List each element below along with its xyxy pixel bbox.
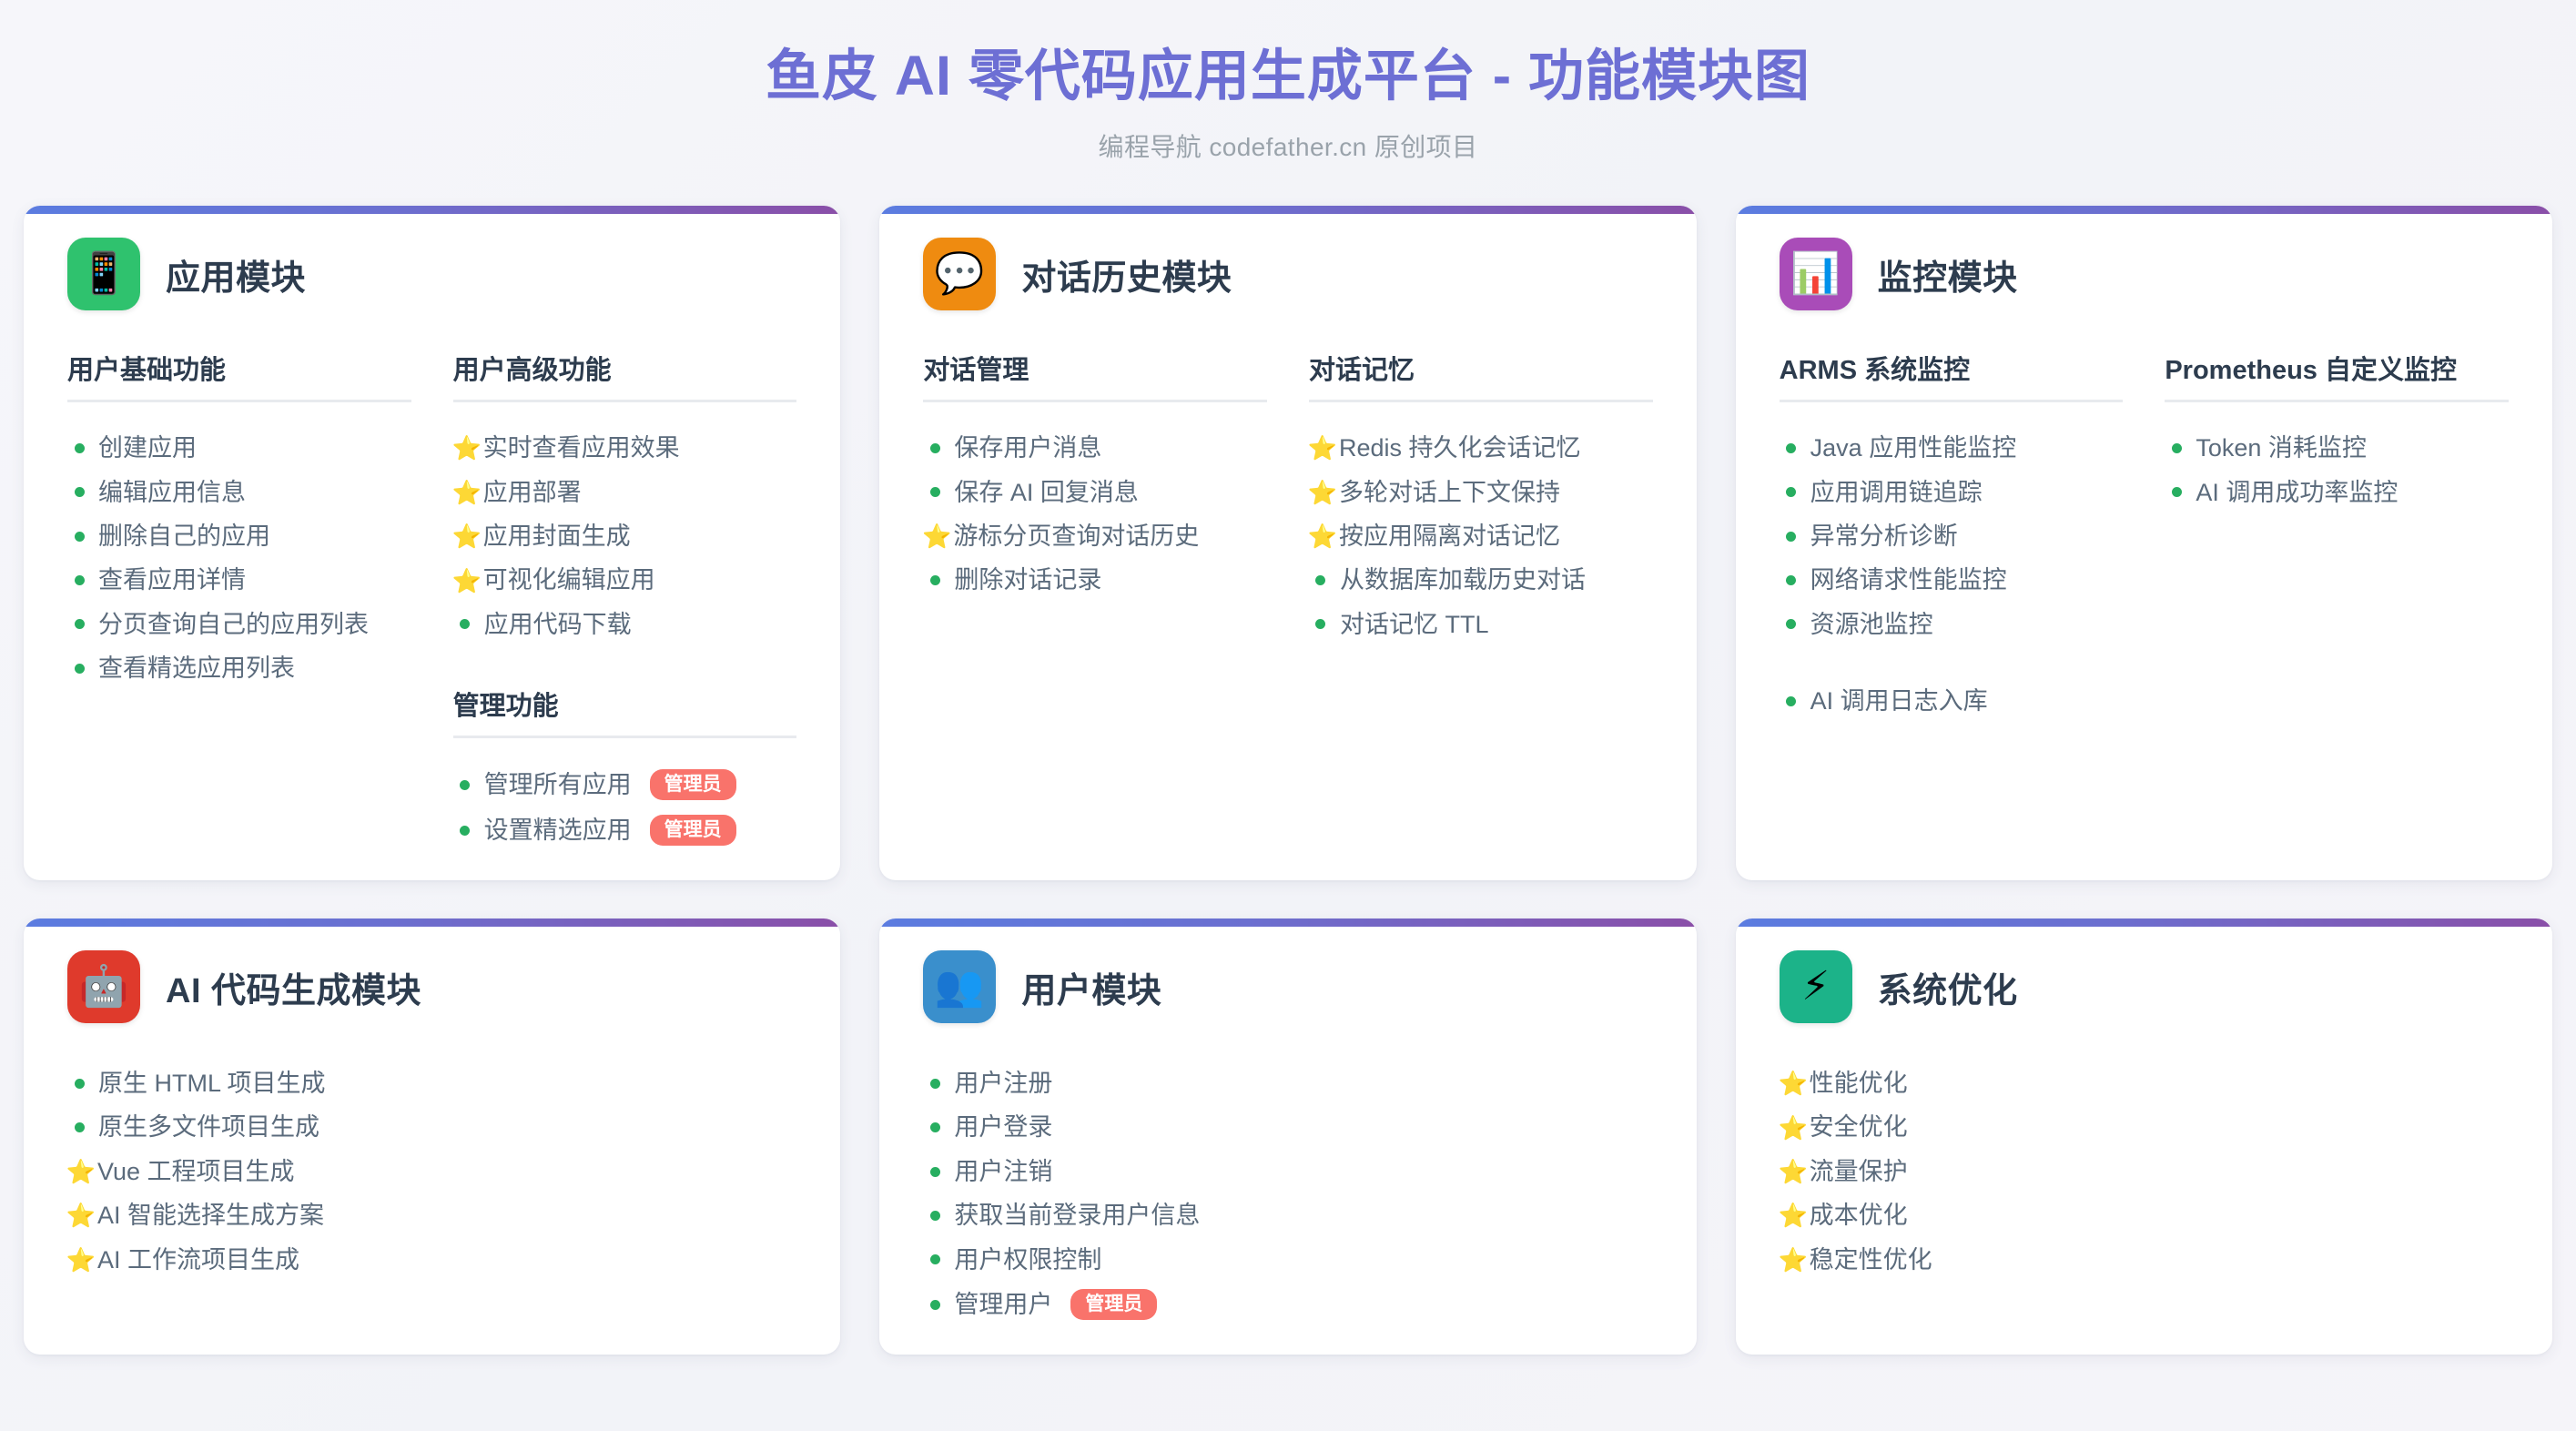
feature-group: 对话管理保存用户消息保存 AI 回复消息⭐游标分页查询对话历史删除对话记录 bbox=[923, 349, 1267, 603]
feature-item-label: 应用封面生成 bbox=[483, 522, 631, 551]
bullet-dot-icon bbox=[67, 619, 91, 629]
card-columns: 用户注册用户登录用户注销获取当前登录用户信息用户权限控制管理用户管理员 bbox=[923, 1061, 1652, 1327]
feature-item-label: 应用代码下载 bbox=[484, 610, 632, 639]
star-icon: ⭐ bbox=[67, 1203, 95, 1227]
card-title: 应用模块 bbox=[166, 249, 306, 299]
card-accent-bar bbox=[879, 206, 1696, 214]
feature-item-label: 多轮对话上下文保持 bbox=[1339, 478, 1560, 507]
bullet-dot-icon bbox=[67, 1122, 91, 1132]
feature-item: ⭐应用部署 bbox=[453, 471, 797, 514]
lightning-bolt-icon: ⚡ bbox=[1780, 950, 1852, 1023]
feature-item: 获取当前登录用户信息 bbox=[923, 1193, 1652, 1237]
feature-item: 用户注册 bbox=[923, 1061, 1652, 1105]
bullet-dot-icon bbox=[453, 780, 477, 790]
card-header: 📊监控模块 bbox=[1780, 238, 2509, 310]
feature-item-label: Java 应用性能监控 bbox=[1810, 433, 2017, 462]
feature-item-label: Token 消耗监控 bbox=[2196, 433, 2367, 462]
bullet-dot-icon bbox=[67, 487, 91, 497]
star-icon: ⭐ bbox=[453, 436, 481, 460]
feature-item: 管理所有应用管理员 bbox=[453, 762, 797, 807]
card-body: ⚡系统优化⭐性能优化⭐安全优化⭐流量保护⭐成本优化⭐稳定性优化 bbox=[1736, 927, 2552, 1282]
module-card-grid: 📱应用模块用户基础功能创建应用编辑应用信息删除自己的应用查看应用详情分页查询自己… bbox=[24, 206, 2552, 1431]
feature-item-label: 网络请求性能监控 bbox=[1810, 565, 2007, 594]
feature-item-label: 原生多文件项目生成 bbox=[98, 1112, 319, 1142]
feature-list: ⭐性能优化⭐安全优化⭐流量保护⭐成本优化⭐稳定性优化 bbox=[1780, 1061, 2509, 1282]
bullet-dot-icon bbox=[923, 575, 947, 585]
feature-item: ⭐性能优化 bbox=[1780, 1061, 2509, 1105]
card-column: 原生 HTML 项目生成原生多文件项目生成⭐Vue 工程项目生成⭐AI 智能选择… bbox=[67, 1061, 796, 1282]
module-card: 👥用户模块用户注册用户登录用户注销获取当前登录用户信息用户权限控制管理用户管理员 bbox=[879, 918, 1696, 1355]
feature-item: AI 调用日志入库 bbox=[1780, 679, 2124, 723]
feature-item-label: 设置精选应用 bbox=[484, 816, 632, 845]
feature-item-label: 安全优化 bbox=[1810, 1112, 1908, 1142]
feature-item-label: 分页查询自己的应用列表 bbox=[98, 610, 369, 639]
feature-item-label: Vue 工程项目生成 bbox=[97, 1157, 295, 1186]
feature-item-label: AI 调用日志入库 bbox=[1810, 686, 1988, 715]
bullet-dot-icon bbox=[923, 1254, 947, 1264]
feature-item: ⭐AI 智能选择生成方案 bbox=[67, 1193, 796, 1237]
feature-item: 应用调用链追踪 bbox=[1780, 471, 2124, 514]
feature-group: 管理功能管理所有应用管理员设置精选应用管理员 bbox=[453, 685, 797, 853]
page-subtitle: 编程导航 codefather.cn 原创项目 bbox=[24, 127, 2552, 164]
feature-item: 编辑应用信息 bbox=[67, 471, 411, 514]
bullet-dot-icon bbox=[2165, 487, 2188, 497]
module-card: 📊监控模块ARMS 系统监控Java 应用性能监控应用调用链追踪异常分析诊断网络… bbox=[1736, 206, 2552, 880]
feature-item: 用户注销 bbox=[923, 1150, 1652, 1193]
star-icon: ⭐ bbox=[1309, 481, 1336, 504]
card-column: 用户高级功能⭐实时查看应用效果⭐应用部署⭐应用封面生成⭐可视化编辑应用应用代码下… bbox=[453, 349, 797, 853]
feature-item-label: 用户权限控制 bbox=[954, 1245, 1101, 1274]
feature-group-title: 对话记忆 bbox=[1309, 349, 1653, 402]
feature-item-label: 编辑应用信息 bbox=[98, 478, 246, 507]
card-accent-bar bbox=[1736, 918, 2552, 927]
feature-item: AI 调用成功率监控 bbox=[2165, 471, 2509, 514]
feature-item-label: 获取当前登录用户信息 bbox=[954, 1201, 1200, 1230]
feature-item: 保存用户消息 bbox=[923, 426, 1267, 470]
feature-item: 用户权限控制 bbox=[923, 1238, 1652, 1282]
feature-item: 原生 HTML 项目生成 bbox=[67, 1061, 796, 1105]
feature-group: 对话记忆⭐Redis 持久化会话记忆⭐多轮对话上下文保持⭐按应用隔离对话记忆从数… bbox=[1309, 349, 1653, 646]
feature-item-label: 稳定性优化 bbox=[1810, 1245, 1932, 1274]
feature-group: 用户基础功能创建应用编辑应用信息删除自己的应用查看应用详情分页查询自己的应用列表… bbox=[67, 349, 411, 690]
card-header: ⚡系统优化 bbox=[1780, 950, 2509, 1023]
feature-item-label: 实时查看应用效果 bbox=[483, 433, 680, 462]
mobile-phone-icon: 📱 bbox=[67, 238, 140, 310]
bullet-dot-icon bbox=[67, 443, 91, 453]
module-card: 💬对话历史模块对话管理保存用户消息保存 AI 回复消息⭐游标分页查询对话历史删除… bbox=[879, 206, 1696, 880]
module-card: 🤖AI 代码生成模块原生 HTML 项目生成原生多文件项目生成⭐Vue 工程项目… bbox=[24, 918, 840, 1355]
feature-item: ⭐实时查看应用效果 bbox=[453, 426, 797, 470]
feature-item-label: 查看应用详情 bbox=[98, 565, 246, 594]
card-body: 🤖AI 代码生成模块原生 HTML 项目生成原生多文件项目生成⭐Vue 工程项目… bbox=[24, 927, 840, 1282]
star-icon: ⭐ bbox=[1780, 1160, 1807, 1183]
card-body: 💬对话历史模块对话管理保存用户消息保存 AI 回复消息⭐游标分页查询对话历史删除… bbox=[879, 214, 1696, 646]
feature-group-title: ARMS 系统监控 bbox=[1780, 349, 2124, 402]
card-accent-bar bbox=[24, 206, 840, 214]
feature-item-label: 游标分页查询对话历史 bbox=[953, 522, 1199, 551]
star-icon: ⭐ bbox=[1309, 436, 1336, 460]
feature-item-label: 删除自己的应用 bbox=[98, 522, 270, 551]
bullet-dot-icon bbox=[923, 1167, 947, 1177]
feature-item: Token 消耗监控 bbox=[2165, 426, 2509, 470]
feature-item: 资源池监控 bbox=[1780, 603, 2124, 646]
card-column: ARMS 系统监控Java 应用性能监控应用调用链追踪异常分析诊断网络请求性能监… bbox=[1780, 349, 2124, 723]
bullet-dot-icon bbox=[923, 1122, 947, 1132]
card-accent-bar bbox=[24, 918, 840, 927]
card-header: 📱应用模块 bbox=[67, 238, 796, 310]
card-title: 系统优化 bbox=[1878, 962, 2018, 1012]
feature-item: ⭐多轮对话上下文保持 bbox=[1309, 471, 1653, 514]
bullet-dot-icon bbox=[1780, 696, 1803, 706]
feature-group: 用户注册用户登录用户注销获取当前登录用户信息用户权限控制管理用户管理员 bbox=[923, 1061, 1652, 1327]
star-icon: ⭐ bbox=[1780, 1071, 1807, 1095]
feature-group: 用户高级功能⭐实时查看应用效果⭐应用部署⭐应用封面生成⭐可视化编辑应用应用代码下… bbox=[453, 349, 797, 646]
star-icon: ⭐ bbox=[923, 524, 950, 548]
card-header: 💬对话历史模块 bbox=[923, 238, 1652, 310]
card-column: 对话管理保存用户消息保存 AI 回复消息⭐游标分页查询对话历史删除对话记录 bbox=[923, 349, 1267, 646]
feature-item-label: 保存用户消息 bbox=[954, 433, 1101, 462]
users-icon: 👥 bbox=[923, 950, 996, 1023]
card-column: ⭐性能优化⭐安全优化⭐流量保护⭐成本优化⭐稳定性优化 bbox=[1780, 1061, 2509, 1282]
feature-list: 用户注册用户登录用户注销获取当前登录用户信息用户权限控制管理用户管理员 bbox=[923, 1061, 1652, 1327]
feature-item-label: 资源池监控 bbox=[1810, 610, 1933, 639]
card-accent-bar bbox=[1736, 206, 2552, 214]
feature-group-title: Prometheus 自定义监控 bbox=[2165, 349, 2509, 402]
card-title: AI 代码生成模块 bbox=[166, 962, 421, 1012]
feature-item: 异常分析诊断 bbox=[1780, 514, 2124, 558]
card-title: 用户模块 bbox=[1021, 962, 1161, 1012]
feature-item-label: 用户登录 bbox=[954, 1112, 1052, 1142]
card-columns: ⭐性能优化⭐安全优化⭐流量保护⭐成本优化⭐稳定性优化 bbox=[1780, 1061, 2509, 1282]
feature-item-label: 应用调用链追踪 bbox=[1810, 478, 1983, 507]
feature-item-label: 查看精选应用列表 bbox=[98, 654, 295, 683]
feature-item-label: 保存 AI 回复消息 bbox=[954, 478, 1139, 507]
page-root: 鱼皮 AI 零代码应用生成平台 - 功能模块图 编程导航 codefather.… bbox=[0, 0, 2576, 1431]
star-icon: ⭐ bbox=[453, 524, 481, 548]
feature-group: ARMS 系统监控Java 应用性能监控应用调用链追踪异常分析诊断网络请求性能监… bbox=[1780, 349, 2124, 723]
feature-item-label: 管理所有应用 bbox=[484, 770, 632, 799]
feature-item-label: 从数据库加载历史对话 bbox=[1340, 565, 1586, 594]
feature-group-title: 用户基础功能 bbox=[67, 349, 411, 402]
star-icon: ⭐ bbox=[453, 481, 481, 504]
admin-badge: 管理员 bbox=[1070, 1289, 1157, 1320]
feature-item-label: AI 调用成功率监控 bbox=[2196, 478, 2398, 507]
feature-item: ⭐AI 工作流项目生成 bbox=[67, 1238, 796, 1282]
bullet-dot-icon bbox=[1780, 532, 1803, 542]
feature-item-label: 异常分析诊断 bbox=[1810, 522, 1958, 551]
feature-item-label: AI 智能选择生成方案 bbox=[97, 1201, 324, 1230]
feature-item: 应用代码下载 bbox=[453, 603, 797, 646]
bullet-dot-icon bbox=[67, 1079, 91, 1089]
feature-item: ⭐Redis 持久化会话记忆 bbox=[1309, 426, 1653, 470]
feature-item: 保存 AI 回复消息 bbox=[923, 471, 1267, 514]
bullet-dot-icon bbox=[1309, 575, 1333, 585]
feature-item-label: 成本优化 bbox=[1810, 1201, 1908, 1230]
feature-item: 设置精选应用管理员 bbox=[453, 807, 797, 853]
bullet-dot-icon bbox=[923, 1300, 947, 1310]
module-card: ⚡系统优化⭐性能优化⭐安全优化⭐流量保护⭐成本优化⭐稳定性优化 bbox=[1736, 918, 2552, 1355]
bullet-dot-icon bbox=[1780, 487, 1803, 497]
feature-list: 保存用户消息保存 AI 回复消息⭐游标分页查询对话历史删除对话记录 bbox=[923, 426, 1267, 603]
module-card: 📱应用模块用户基础功能创建应用编辑应用信息删除自己的应用查看应用详情分页查询自己… bbox=[24, 206, 840, 880]
card-columns: ARMS 系统监控Java 应用性能监控应用调用链追踪异常分析诊断网络请求性能监… bbox=[1780, 349, 2509, 723]
card-accent-bar bbox=[879, 918, 1696, 927]
feature-item: 管理用户管理员 bbox=[923, 1282, 1652, 1327]
star-icon: ⭐ bbox=[1309, 524, 1336, 548]
card-column: 用户注册用户登录用户注销获取当前登录用户信息用户权限控制管理用户管理员 bbox=[923, 1061, 1652, 1327]
feature-item: 对话记忆 TTL bbox=[1309, 603, 1653, 646]
card-column: Prometheus 自定义监控Token 消耗监控AI 调用成功率监控 bbox=[2165, 349, 2509, 723]
feature-item: ⭐游标分页查询对话历史 bbox=[923, 514, 1267, 558]
star-icon: ⭐ bbox=[1780, 1116, 1807, 1140]
admin-badge: 管理员 bbox=[650, 769, 736, 800]
feature-item: ⭐可视化编辑应用 bbox=[453, 558, 797, 602]
card-column: 用户基础功能创建应用编辑应用信息删除自己的应用查看应用详情分页查询自己的应用列表… bbox=[67, 349, 411, 853]
feature-item-label: 应用部署 bbox=[483, 478, 582, 507]
card-column: 对话记忆⭐Redis 持久化会话记忆⭐多轮对话上下文保持⭐按应用隔离对话记忆从数… bbox=[1309, 349, 1653, 646]
feature-item: 查看精选应用列表 bbox=[67, 646, 411, 690]
feature-item: Java 应用性能监控 bbox=[1780, 426, 2124, 470]
feature-item-label: 删除对话记录 bbox=[954, 565, 1101, 594]
bullet-dot-icon bbox=[453, 826, 477, 836]
feature-group: 原生 HTML 项目生成原生多文件项目生成⭐Vue 工程项目生成⭐AI 智能选择… bbox=[67, 1061, 796, 1282]
feature-item: 创建应用 bbox=[67, 426, 411, 470]
bullet-dot-icon bbox=[923, 1211, 947, 1221]
feature-item-label: 可视化编辑应用 bbox=[483, 565, 655, 594]
feature-item-label: 用户注册 bbox=[954, 1069, 1052, 1098]
card-title: 监控模块 bbox=[1878, 249, 2018, 299]
card-columns: 用户基础功能创建应用编辑应用信息删除自己的应用查看应用详情分页查询自己的应用列表… bbox=[67, 349, 796, 853]
feature-item: 查看应用详情 bbox=[67, 558, 411, 602]
card-body: 📱应用模块用户基础功能创建应用编辑应用信息删除自己的应用查看应用详情分页查询自己… bbox=[24, 214, 840, 853]
feature-group: Prometheus 自定义监控Token 消耗监控AI 调用成功率监控 bbox=[2165, 349, 2509, 514]
feature-group-title: 用户高级功能 bbox=[453, 349, 797, 402]
feature-item-label: 按应用隔离对话记忆 bbox=[1339, 522, 1560, 551]
feature-item: ⭐稳定性优化 bbox=[1780, 1238, 2509, 1282]
bullet-dot-icon bbox=[923, 487, 947, 497]
card-body: 📊监控模块ARMS 系统监控Java 应用性能监控应用调用链追踪异常分析诊断网络… bbox=[1736, 214, 2552, 723]
star-icon: ⭐ bbox=[453, 569, 481, 593]
feature-item: ⭐流量保护 bbox=[1780, 1150, 2509, 1193]
feature-item-label: 性能优化 bbox=[1810, 1069, 1908, 1098]
feature-item-label: 创建应用 bbox=[98, 433, 197, 462]
feature-list: ⭐实时查看应用效果⭐应用部署⭐应用封面生成⭐可视化编辑应用应用代码下载 bbox=[453, 426, 797, 646]
bullet-dot-icon bbox=[923, 1079, 947, 1089]
feature-item: 原生多文件项目生成 bbox=[67, 1105, 796, 1149]
feature-group-title: 管理功能 bbox=[453, 685, 797, 738]
feature-item: 从数据库加载历史对话 bbox=[1309, 558, 1653, 602]
feature-item: ⭐应用封面生成 bbox=[453, 514, 797, 558]
robot-icon: 🤖 bbox=[67, 950, 140, 1023]
feature-item: ⭐Vue 工程项目生成 bbox=[67, 1150, 796, 1193]
bullet-dot-icon bbox=[1309, 619, 1333, 629]
feature-item-label: 用户注销 bbox=[954, 1157, 1052, 1186]
page-title: 鱼皮 AI 零代码应用生成平台 - 功能模块图 bbox=[24, 44, 2552, 107]
card-body: 👥用户模块用户注册用户登录用户注销获取当前登录用户信息用户权限控制管理用户管理员 bbox=[879, 927, 1696, 1327]
feature-item-label: Redis 持久化会话记忆 bbox=[1339, 433, 1581, 462]
feature-list: Token 消耗监控AI 调用成功率监控 bbox=[2165, 426, 2509, 514]
bullet-dot-icon bbox=[67, 575, 91, 585]
bar-chart-icon: 📊 bbox=[1780, 238, 1852, 310]
card-header: 👥用户模块 bbox=[923, 950, 1652, 1023]
feature-item-label: 管理用户 bbox=[954, 1290, 1052, 1319]
feature-list: ⭐Redis 持久化会话记忆⭐多轮对话上下文保持⭐按应用隔离对话记忆从数据库加载… bbox=[1309, 426, 1653, 646]
bullet-dot-icon bbox=[67, 664, 91, 674]
bullet-dot-icon bbox=[1780, 443, 1803, 453]
bullet-dot-icon bbox=[453, 619, 477, 629]
feature-item: ⭐成本优化 bbox=[1780, 1193, 2509, 1237]
feature-item: 分页查询自己的应用列表 bbox=[67, 603, 411, 646]
page-header: 鱼皮 AI 零代码应用生成平台 - 功能模块图 编程导航 codefather.… bbox=[24, 31, 2552, 164]
card-title: 对话历史模块 bbox=[1021, 249, 1232, 299]
star-icon: ⭐ bbox=[1780, 1203, 1807, 1227]
feature-item-label: AI 工作流项目生成 bbox=[97, 1245, 299, 1274]
feature-item-label: 流量保护 bbox=[1810, 1157, 1908, 1186]
admin-badge: 管理员 bbox=[650, 815, 736, 846]
bullet-dot-icon bbox=[1780, 575, 1803, 585]
feature-item: ⭐安全优化 bbox=[1780, 1105, 2509, 1149]
feature-item: 用户登录 bbox=[923, 1105, 1652, 1149]
feature-item-label: 原生 HTML 项目生成 bbox=[98, 1069, 326, 1098]
bullet-dot-icon bbox=[1780, 619, 1803, 629]
bullet-dot-icon bbox=[67, 532, 91, 542]
bullet-dot-icon bbox=[923, 443, 947, 453]
feature-list: 原生 HTML 项目生成原生多文件项目生成⭐Vue 工程项目生成⭐AI 智能选择… bbox=[67, 1061, 796, 1282]
feature-group: ⭐性能优化⭐安全优化⭐流量保护⭐成本优化⭐稳定性优化 bbox=[1780, 1061, 2509, 1282]
bullet-dot-icon bbox=[2165, 443, 2188, 453]
feature-list: 管理所有应用管理员设置精选应用管理员 bbox=[453, 762, 797, 853]
star-icon: ⭐ bbox=[1780, 1248, 1807, 1272]
card-header: 🤖AI 代码生成模块 bbox=[67, 950, 796, 1023]
feature-list: Java 应用性能监控应用调用链追踪异常分析诊断网络请求性能监控资源池监控AI … bbox=[1780, 426, 2124, 723]
feature-item: 网络请求性能监控 bbox=[1780, 558, 2124, 602]
feature-list: 创建应用编辑应用信息删除自己的应用查看应用详情分页查询自己的应用列表查看精选应用… bbox=[67, 426, 411, 690]
star-icon: ⭐ bbox=[67, 1160, 95, 1183]
feature-item-label: 对话记忆 TTL bbox=[1340, 610, 1489, 639]
feature-item: 删除对话记录 bbox=[923, 558, 1267, 602]
card-columns: 对话管理保存用户消息保存 AI 回复消息⭐游标分页查询对话历史删除对话记录对话记… bbox=[923, 349, 1652, 646]
feature-item: 删除自己的应用 bbox=[67, 514, 411, 558]
feature-group-title: 对话管理 bbox=[923, 349, 1267, 402]
star-icon: ⭐ bbox=[67, 1248, 95, 1272]
feature-item: ⭐按应用隔离对话记忆 bbox=[1309, 514, 1653, 558]
card-columns: 原生 HTML 项目生成原生多文件项目生成⭐Vue 工程项目生成⭐AI 智能选择… bbox=[67, 1061, 796, 1282]
speech-bubble-icon: 💬 bbox=[923, 238, 996, 310]
